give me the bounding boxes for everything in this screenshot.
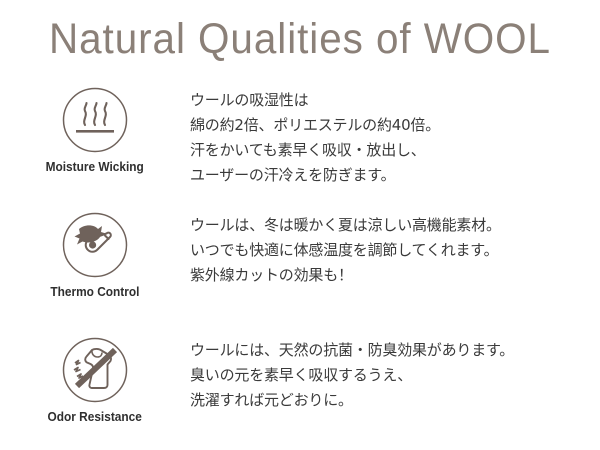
- feature-text-line: ウールは、冬は暖かく夏は涼しい高機能素材。: [190, 213, 592, 238]
- no-odor-shirt-icon: [61, 336, 129, 404]
- feature-text-line: いつでも快適に体感温度を調節してくれます。: [190, 238, 592, 263]
- feature-text-line: ウールの吸湿性は: [190, 88, 592, 113]
- feature-text-line: 紫外線カットの効果も！: [190, 263, 592, 288]
- feature-label: Odor Resistance: [48, 410, 142, 424]
- thermometer-sun-icon: [61, 211, 129, 279]
- feature-label: Moisture Wicking: [46, 160, 144, 174]
- feature-icon-block-odor-resistance: Odor Resistance: [0, 336, 190, 424]
- steam-waves-icon: [61, 86, 129, 154]
- page-title: Natural Qualities of WOOL: [18, 14, 582, 64]
- feature-text-line: 綿の約2倍、ポリエステルの約40倍。: [190, 113, 592, 138]
- feature-text-line: ウールには、天然の抗菌・防臭効果があります。: [190, 338, 592, 363]
- feature-icon-block-thermo-control: Thermo Control: [0, 211, 190, 299]
- feature-text-block: ウールは、冬は暖かく夏は涼しい高機能素材。 いつでも快適に体感温度を調節してくれ…: [190, 211, 600, 288]
- feature-row: Thermo Control ウールは、冬は暖かく夏は涼しい高機能素材。 いつで…: [0, 211, 600, 299]
- feature-icon-block-moisture-wicking: Moisture Wicking: [0, 86, 190, 174]
- feature-text-line: 臭いの元を素早く吸収するうえ、: [190, 363, 592, 388]
- feature-text-line: 汗をかいても素早く吸収・放出し、: [190, 138, 592, 163]
- feature-text-line: ユーザーの汗冷えを防ぎます。: [190, 163, 592, 188]
- feature-text-block: ウールには、天然の抗菌・防臭効果があります。 臭いの元を素早く吸収するうえ、 洗…: [190, 336, 600, 413]
- feature-label: Thermo Control: [50, 285, 139, 299]
- feature-text-block: ウールの吸湿性は 綿の約2倍、ポリエステルの約40倍。 汗をかいても素早く吸収・…: [190, 86, 600, 188]
- feature-text-line: 洗濯すれば元どおりに。: [190, 388, 592, 413]
- feature-row: Moisture Wicking ウールの吸湿性は 綿の約2倍、ポリエステルの約…: [0, 86, 600, 188]
- feature-row: Odor Resistance ウールには、天然の抗菌・防臭効果があります。 臭…: [0, 336, 600, 424]
